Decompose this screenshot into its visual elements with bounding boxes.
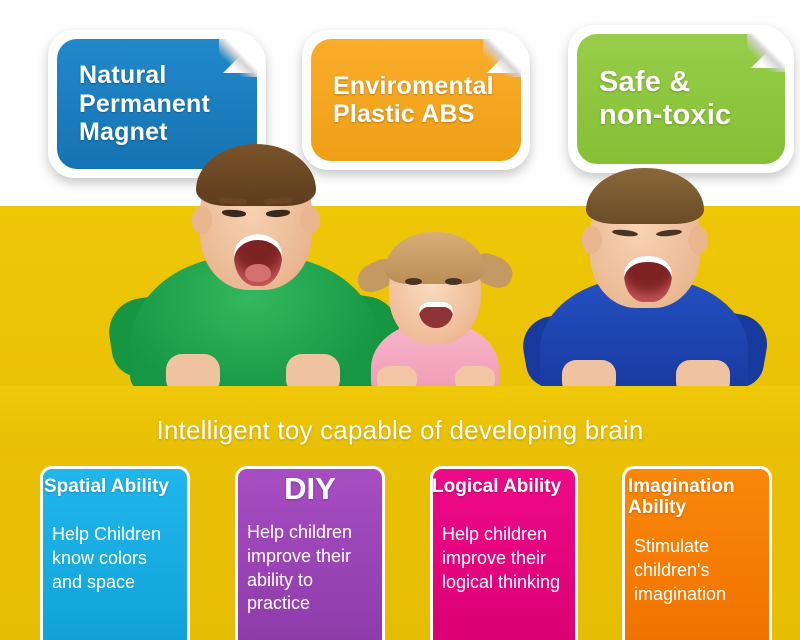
tagline-text: Intelligent toy capable of developing br… [0, 415, 800, 446]
tongue [245, 264, 271, 282]
badge-text: Safe & non-toxic [599, 66, 731, 132]
eye-left [405, 278, 422, 285]
badge-line-2: Permanent [79, 90, 210, 119]
badge-line-1: Natural [79, 61, 210, 90]
ear-left [192, 206, 212, 234]
benefit-card-imagination-ability[interactable]: Imagination Ability Stimulate children's… [622, 466, 772, 640]
ear-right [688, 226, 708, 254]
benefit-card-spatial-ability[interactable]: Spatial Ability Help Children know color… [40, 466, 190, 640]
ear-right [300, 206, 320, 234]
benefit-card-diy[interactable]: DIY Help children improve their ability … [235, 466, 385, 640]
hair [196, 144, 316, 206]
hair [586, 168, 704, 224]
open-mouth [624, 256, 672, 302]
badge-line-1: Safe & [599, 66, 731, 99]
badge-body: Enviromental Plastic ABS [311, 39, 521, 161]
benefit-card-title: Imagination Ability [625, 476, 769, 519]
feature-badge-safe-non-toxic: Safe & non-toxic [568, 25, 794, 173]
benefit-card-body: Help children improve their logical thin… [433, 523, 575, 594]
benefit-card-body: Stimulate children's imagination [625, 535, 769, 606]
badge-text: Enviromental Plastic ABS [333, 72, 494, 129]
benefit-card-title: Logical Ability [429, 476, 587, 497]
badge-body: Safe & non-toxic [577, 34, 785, 164]
badge-line-1: Enviromental [333, 72, 494, 101]
ear-left [582, 226, 602, 254]
badge-line-3: Magnet [79, 118, 210, 147]
benefit-card-title: Spatial Ability [41, 476, 197, 497]
child-photo-blue-shirt-boy [528, 168, 758, 396]
peeled-corner-icon [487, 39, 521, 73]
benefit-card-logical-ability[interactable]: Logical Ability Help children improve th… [430, 466, 578, 640]
benefit-card-title: DIY [238, 472, 382, 507]
badge-text: Natural Permanent Magnet [79, 61, 210, 147]
hair [385, 232, 485, 284]
benefit-card-body: Help Children know colors and space [43, 523, 187, 594]
badge-line-2: non-toxic [599, 99, 731, 132]
badge-line-2: Plastic ABS [333, 100, 494, 129]
peeled-corner-icon [223, 39, 257, 73]
product-infographic-poster: Natural Permanent Magnet Enviromental Pl… [0, 0, 800, 640]
peeled-corner-icon [751, 34, 785, 68]
benefit-card-body: Help children improve their ability to p… [238, 521, 382, 616]
eye-right [445, 278, 462, 285]
child-photo-pink-shirt-girl [355, 226, 515, 391]
